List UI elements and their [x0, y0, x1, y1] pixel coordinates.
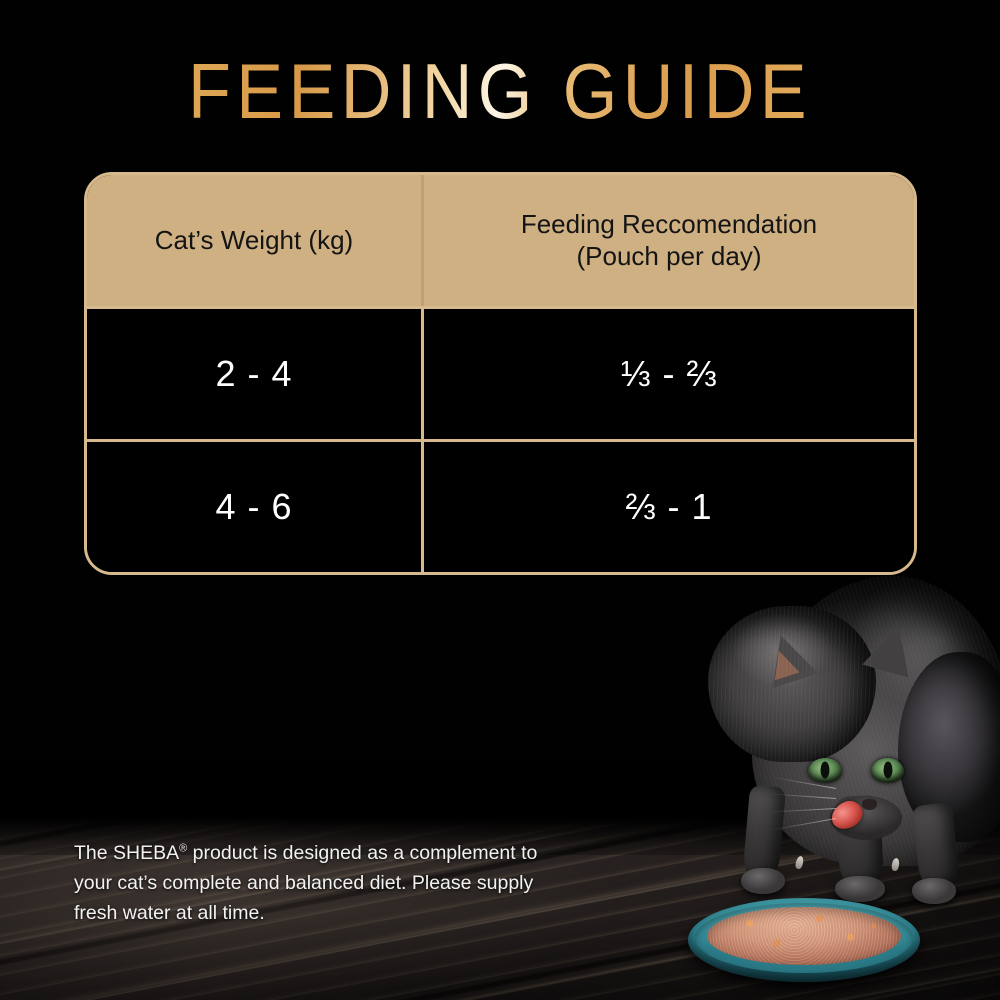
- feeding-table: Cat’s Weight (kg) Feeding Reccomendation…: [84, 172, 917, 575]
- column-header-recommendation: Feeding Reccomendation (Pouch per day): [421, 175, 914, 306]
- cat-ear-left: [758, 628, 818, 688]
- column-header-weight-label: Cat’s Weight (kg): [155, 225, 353, 257]
- cat-eye-left: [808, 758, 842, 783]
- cat-inner-ear: [766, 647, 799, 681]
- table-row: 4 - 6 ⅔ - 1: [87, 439, 914, 572]
- cat-hind-leg: [912, 802, 961, 890]
- wet-food: [707, 907, 901, 965]
- cat-photo: [648, 556, 1000, 956]
- page-title: FEEDING GUIDE: [50, 52, 950, 130]
- food-bowl: [688, 898, 920, 996]
- recommendation-line-2: (Pouch per day): [577, 241, 762, 271]
- column-header-recommendation-label: Feeding Reccomendation (Pouch per day): [521, 209, 817, 272]
- cat-whiskers: [770, 784, 900, 834]
- cat-claw: [891, 857, 900, 871]
- brand-name: SHEBA: [113, 842, 179, 864]
- cell-weight-row-1: 2 - 4: [87, 309, 421, 439]
- table-header-row: Cat’s Weight (kg) Feeding Reccomendation…: [87, 175, 914, 306]
- cat-pupil: [883, 761, 892, 778]
- footnote-prefix: The: [74, 842, 113, 864]
- column-header-weight: Cat’s Weight (kg): [87, 175, 421, 306]
- cat-head: [708, 606, 876, 762]
- feeding-guide-page: FEEDING GUIDE Cat’s Weight (kg) Feeding …: [0, 0, 1000, 1000]
- cell-pouches-row-1: ⅓ - ⅔: [421, 309, 914, 439]
- cat-eye-right: [871, 758, 904, 783]
- table-row: 2 - 4 ⅓ - ⅔: [87, 306, 914, 439]
- cat-pupil: [821, 761, 830, 778]
- cat-claw: [795, 855, 805, 869]
- footnote-disclaimer: The SHEBA® product is designed as a comp…: [74, 838, 574, 929]
- cell-pouches-row-2: ⅔ - 1: [421, 442, 914, 572]
- cat-paw-left: [741, 868, 785, 894]
- recommendation-line-1: Feeding Reccomendation: [521, 209, 817, 239]
- cell-weight-row-2: 4 - 6: [87, 442, 421, 572]
